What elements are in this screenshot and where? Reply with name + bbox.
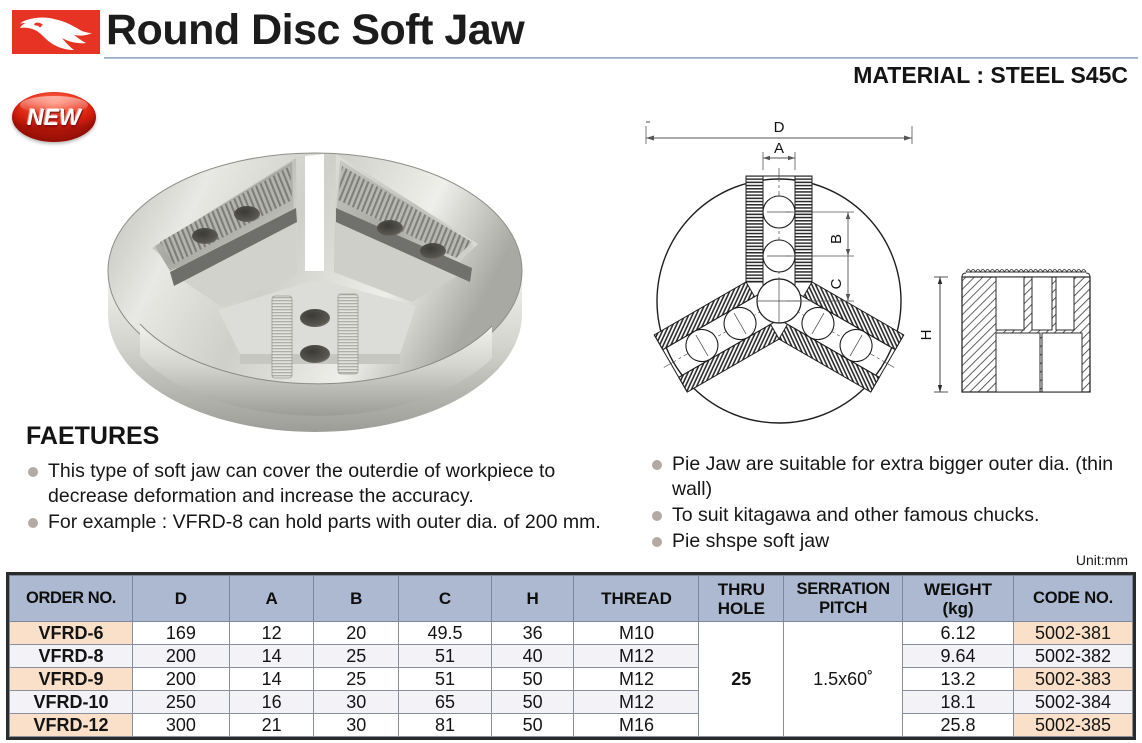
cell-code-no: 5002-381 — [1013, 622, 1132, 645]
weight-line1: WEIGHT — [903, 580, 1013, 599]
cell-h: 40 — [491, 645, 574, 668]
features-left-column: FAETURES This type of soft jaw can cover… — [26, 422, 626, 536]
cell-weight: 6.12 — [903, 622, 1014, 645]
side-view-drawing: H — [918, 248, 1108, 403]
cell-b: 25 — [314, 668, 399, 691]
cell-order-no: VFRD-10 — [10, 691, 133, 714]
serration-line1: SERRATION — [784, 580, 902, 599]
material-label: MATERIAL : STEEL S45C — [853, 62, 1128, 89]
column-header-b: B — [314, 576, 399, 622]
spec-table: ORDER NO. D A B C H THREAD THRU HOLE SER… — [9, 575, 1133, 737]
table-row: VFRD-10 250 16 30 65 50 M12 18.1 5002-38… — [10, 691, 1133, 714]
cell-code-no: 5002-382 — [1013, 645, 1132, 668]
eagle-head-icon — [12, 10, 100, 54]
weight-line2: (kg) — [903, 599, 1013, 618]
front-view-svg: D A — [636, 108, 936, 433]
unit-note: Unit:mm — [1076, 552, 1128, 568]
feature-text: Pie shspe soft jaw — [672, 530, 829, 552]
front-view-drawing: D A — [636, 108, 936, 433]
cell-thread: M12 — [574, 645, 699, 668]
feature-text: To suit kitagawa and other famous chucks… — [672, 504, 1039, 526]
feature-item: Pie shspe soft jaw — [650, 529, 1130, 554]
bullet-icon — [652, 511, 662, 521]
column-header-order-no: ORDER NO. — [10, 576, 133, 622]
feature-text: For example : VFRD-8 can hold parts with… — [48, 511, 601, 533]
cell-h: 50 — [491, 691, 574, 714]
round-disc-soft-jaw-photo — [100, 96, 530, 436]
new-badge: NEW — [12, 92, 96, 142]
features-heading: FAETURES — [26, 422, 626, 451]
column-header-d: D — [132, 576, 229, 622]
cell-thread: M16 — [574, 714, 699, 737]
brand-logo — [12, 10, 100, 54]
cell-order-no: VFRD-8 — [10, 645, 133, 668]
cell-weight: 13.2 — [903, 668, 1014, 691]
bullet-icon — [652, 460, 662, 470]
cell-weight: 25.8 — [903, 714, 1014, 737]
column-header-h: H — [491, 576, 574, 622]
new-badge-label: NEW — [12, 92, 96, 142]
feature-text: This type of soft jaw can cover the oute… — [48, 460, 555, 507]
title-divider — [104, 57, 1138, 59]
cell-thread: M12 — [574, 691, 699, 714]
cell-order-no: VFRD-6 — [10, 622, 133, 645]
cell-d: 250 — [132, 691, 229, 714]
thru-hole-line2: HOLE — [699, 599, 783, 618]
table-row: VFRD-12 300 21 30 81 50 M16 25.8 5002-38… — [10, 714, 1133, 737]
cell-code-no: 5002-385 — [1013, 714, 1132, 737]
dimension-label-b: B — [828, 234, 845, 244]
cell-thru-hole-merged: 25 — [699, 622, 784, 737]
feature-text: Pie Jaw are suitable for extra bigger ou… — [672, 453, 1113, 500]
cell-d: 200 — [132, 645, 229, 668]
cell-a: 14 — [229, 668, 314, 691]
serration-line2: PITCH — [784, 599, 902, 618]
cell-b: 20 — [314, 622, 399, 645]
cell-h: 50 — [491, 714, 574, 737]
cell-d: 300 — [132, 714, 229, 737]
features-right-list: Pie Jaw are suitable for extra bigger ou… — [650, 452, 1130, 554]
bullet-icon — [652, 537, 662, 547]
bullet-icon — [28, 467, 38, 477]
page-header: Round Disc Soft Jaw MATERIAL : STEEL S45… — [0, 0, 1142, 100]
column-header-weight: WEIGHT (kg) — [903, 576, 1014, 622]
cell-weight: 9.64 — [903, 645, 1014, 668]
column-header-thread: THREAD — [574, 576, 699, 622]
cell-order-no: VFRD-12 — [10, 714, 133, 737]
cell-a: 14 — [229, 645, 314, 668]
column-header-code-no: CODE NO. — [1013, 576, 1132, 622]
cell-a: 16 — [229, 691, 314, 714]
cell-c: 51 — [399, 668, 492, 691]
cell-a: 21 — [229, 714, 314, 737]
cell-b: 25 — [314, 645, 399, 668]
column-header-a: A — [229, 576, 314, 622]
cell-weight: 18.1 — [903, 691, 1014, 714]
product-photo — [100, 96, 530, 436]
dimension-label-a: A — [774, 140, 784, 157]
spec-table-container: ORDER NO. D A B C H THREAD THRU HOLE SER… — [6, 572, 1136, 740]
cell-code-no: 5002-384 — [1013, 691, 1132, 714]
bullet-icon — [28, 518, 38, 528]
column-header-serration-pitch: SERRATION PITCH — [784, 576, 903, 622]
dimension-label-d: D — [774, 119, 785, 136]
side-view-svg: H — [918, 248, 1108, 403]
cell-h: 36 — [491, 622, 574, 645]
table-row: VFRD-9 200 14 25 51 50 M12 13.2 5002-383 — [10, 668, 1133, 691]
feature-item: Pie Jaw are suitable for extra bigger ou… — [650, 452, 1130, 502]
cell-order-no: VFRD-9 — [10, 668, 133, 691]
page-title: Round Disc Soft Jaw — [106, 6, 524, 55]
table-row: VFRD-6 169 12 20 49.5 36 M10 25 1.5x60˚ … — [10, 622, 1133, 645]
feature-item: To suit kitagawa and other famous chucks… — [650, 503, 1130, 528]
cell-code-no: 5002-383 — [1013, 668, 1132, 691]
feature-item: This type of soft jaw can cover the oute… — [26, 459, 626, 509]
cell-b: 30 — [314, 691, 399, 714]
features-right-column: Pie Jaw are suitable for extra bigger ou… — [650, 452, 1130, 555]
cell-d: 200 — [132, 668, 229, 691]
feature-item: For example : VFRD-8 can hold parts with… — [26, 510, 626, 535]
cell-c: 51 — [399, 645, 492, 668]
table-header-row: ORDER NO. D A B C H THREAD THRU HOLE SER… — [10, 576, 1133, 622]
features-left-list: This type of soft jaw can cover the oute… — [26, 459, 626, 535]
cell-b: 30 — [314, 714, 399, 737]
cell-c: 65 — [399, 691, 492, 714]
cell-c: 49.5 — [399, 622, 492, 645]
cell-thread: M12 — [574, 668, 699, 691]
thru-hole-line1: THRU — [699, 580, 783, 599]
dimension-label-c: C — [828, 278, 845, 289]
cell-thread: M10 — [574, 622, 699, 645]
cell-h: 50 — [491, 668, 574, 691]
column-header-thru-hole: THRU HOLE — [699, 576, 784, 622]
table-row: VFRD-8 200 14 25 51 40 M12 9.64 5002-382 — [10, 645, 1133, 668]
dimension-label-h: H — [918, 330, 935, 341]
cell-a: 12 — [229, 622, 314, 645]
column-header-c: C — [399, 576, 492, 622]
cell-d: 169 — [132, 622, 229, 645]
cell-c: 81 — [399, 714, 492, 737]
cell-serration-pitch-merged: 1.5x60˚ — [784, 622, 903, 737]
